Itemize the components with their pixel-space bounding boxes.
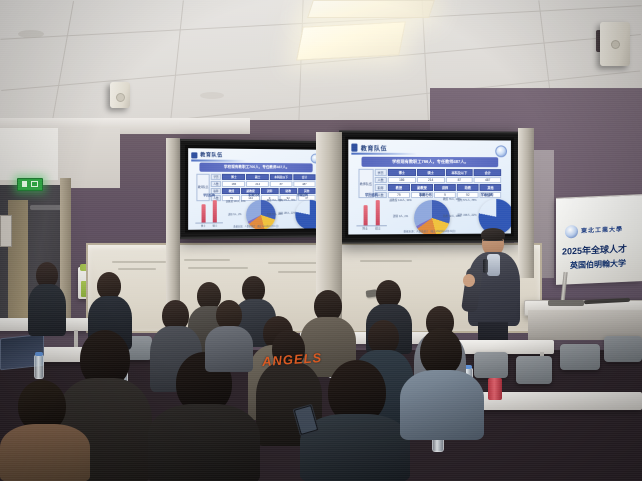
bar-item — [376, 200, 380, 226]
slide-footer: 数据来源：人事处统计（截止2024年12月31日） — [199, 224, 312, 229]
university-logo-icon — [565, 225, 578, 239]
slide-table-right: 教师队伍 学历 博士 硕士 本科及以下 合计 人数 186 214 — [358, 169, 501, 190]
torso — [400, 370, 484, 440]
table-data-cell: 87 — [270, 181, 292, 187]
classroom-presentation-photo: 教育队伍 学校现有教职工766人，专任教师487人。 教师队伍 学历 博士 硕士… — [0, 0, 642, 481]
slide-bar-chart: 学历结构 博士 硕士 — [194, 193, 225, 227]
table-header-cell: 助教 — [457, 184, 479, 191]
chair[interactable] — [516, 356, 552, 384]
table-header-cell: 合计 — [474, 169, 501, 176]
table-header-cell: 博士 — [222, 174, 245, 180]
audience-member — [0, 380, 90, 481]
torso — [148, 404, 260, 481]
presenter-hand — [463, 274, 475, 287]
table-header-cell: 教授 — [388, 184, 410, 191]
slide-title-accent — [352, 144, 358, 152]
slide-donut-chart: 学缘结构 境内 571人, 78% 境外 158人, 22% — [465, 192, 510, 231]
donut-chart-caption: 学缘结构 — [465, 192, 510, 197]
ceiling-light-panel-2 — [307, 0, 435, 18]
wall-poster — [0, 215, 12, 247]
table-row-label: 学历 — [374, 169, 386, 176]
table-header-cell: 博士 — [388, 169, 416, 176]
table-header-cell: 本科及以下 — [270, 174, 292, 180]
bar-chart-caption: 学历结构 — [194, 193, 225, 197]
slide-logo-icon — [495, 145, 507, 157]
slide-title-left: 教育队伍 — [191, 151, 246, 162]
slide-bar-chart: 学历结构 博士 硕士 — [355, 192, 388, 232]
bar-item — [201, 205, 205, 223]
water-bottle[interactable] — [34, 355, 44, 379]
audience-member — [400, 328, 484, 438]
pie-label: 讲师 9人, 2% — [389, 216, 412, 219]
donut-label: 境内 571人, 78% — [279, 200, 294, 203]
slide-content-left: 教育队伍 学校现有教职工766人，专任教师487人。 教师队伍 学历 博士 硕士… — [188, 148, 323, 230]
pie-label: 讲师 9人, 2% — [226, 214, 243, 217]
donut-label: 境内 571人, 78% — [457, 200, 476, 203]
audience-member — [28, 262, 66, 336]
slide-banner: 学校现有教职工766人，专任教师487人。 — [199, 163, 312, 173]
pie-label: 副教授 144人, 30% — [389, 200, 412, 203]
slide-title-underline — [352, 152, 418, 154]
table-data-cell: 214 — [417, 177, 445, 183]
slide-content-right: 教育队伍 学校现有教职工766人，专任教师487人。 教师队伍 学历 博士 硕士… — [348, 139, 511, 234]
torso — [28, 284, 66, 336]
donut-label: 境外 158人, 22% — [457, 214, 476, 217]
door-push-bar[interactable] — [30, 205, 64, 210]
pie-chart-caption: 职称分布 — [227, 193, 281, 197]
pie-chart-caption: 职称分布 — [391, 192, 459, 197]
table-data-cell: 214 — [246, 181, 269, 187]
donut-label: 境外 158人, 22% — [279, 213, 294, 216]
table-row: 学历 博士 硕士 本科及以下 合计 — [211, 174, 316, 180]
chair[interactable] — [560, 344, 600, 370]
bar-chart-caption: 学历结构 — [355, 192, 388, 197]
slide-banner: 学校现有教职工766人，专任教师487人。 — [362, 157, 499, 168]
pie-label: 副教授 144人, 30% — [226, 201, 243, 204]
university-name: 東北工業大學 — [581, 224, 623, 235]
chair[interactable] — [604, 336, 642, 362]
head — [420, 328, 462, 376]
presenter-shirt — [487, 254, 500, 276]
table-row: 人数 186 214 87 487 — [374, 177, 501, 183]
presenter-glasses-icon — [483, 240, 503, 245]
event-banner: 東北工業大學 2025年全球人才 英国伯明翰大学 — [556, 194, 642, 285]
table-row: 学历 博士 硕士 本科及以下 合计 — [374, 169, 501, 176]
table-data-cell: 487 — [474, 177, 501, 183]
red-cup[interactable] — [488, 378, 502, 400]
slide-pie-chart: 职称分布 副教授 144人, 30% 教授 79人, 16% 助教 92人, 1… — [391, 192, 459, 232]
table-header-cell: 硕士 — [246, 174, 269, 180]
table-row-label: 人数 — [374, 177, 386, 183]
table-header-cell: 硕士 — [417, 169, 445, 176]
slide-pie-chart: 职称分布 副教授 144人, 30% 教授 79人, 16% 助教 92人, 1… — [227, 193, 281, 227]
table-row: 职称 教授 副教授 讲师 助教 其他 — [374, 184, 501, 191]
audience-member — [205, 300, 253, 370]
table-data-cell: 487 — [293, 181, 315, 187]
table-header-cell: 本科及以下 — [445, 169, 473, 176]
bar-item — [363, 205, 367, 226]
table-data-cell: 186 — [222, 181, 245, 187]
bar-chart-plot — [355, 198, 388, 227]
microphone-base — [548, 300, 584, 306]
slide-title-text: 教育队伍 — [361, 143, 387, 152]
table-row-label: 人数 — [211, 181, 222, 187]
left-window-strip — [0, 128, 58, 180]
handheld-microphone[interactable] — [483, 259, 488, 273]
right-wall-speaker — [600, 22, 630, 66]
torso — [205, 326, 253, 372]
emergency-exit-sign — [17, 178, 43, 191]
table-header-cell: 讲师 — [434, 184, 456, 191]
table-row-label: 职称 — [374, 184, 386, 191]
table-data-cell: 87 — [445, 177, 473, 183]
slide-title-accent — [191, 152, 197, 159]
left-wall-speaker — [110, 82, 130, 108]
table-header-cell: 副教授 — [411, 184, 433, 191]
table-header-cell: 合计 — [293, 174, 315, 180]
bar-item — [213, 200, 217, 223]
slide-banner-text: 学校现有教职工766人，专任教师487人。 — [392, 159, 469, 165]
bar-chart-plot — [194, 198, 225, 223]
slide-banner-text: 学校现有教职工766人，专任教师487人。 — [224, 165, 289, 170]
table-data-cell: 186 — [388, 177, 416, 183]
slide-title-text: 教育队伍 — [200, 151, 222, 158]
table-row: 人数 186 214 87 487 — [211, 181, 316, 187]
banner-line-1: 2025年全球人才 — [562, 242, 627, 258]
slide-title-right: 教育队伍 — [352, 142, 418, 155]
table-row-label: 学历 — [211, 174, 222, 180]
table-header-cell: 其他 — [480, 184, 502, 191]
banner-line-2: 英国伯明翰大学 — [570, 258, 626, 271]
display-screen-left[interactable]: 教育队伍 学校现有教职工766人，专任教师487人。 教师队伍 学历 博士 硕士… — [179, 139, 332, 239]
torso — [0, 424, 90, 481]
display-screen-right[interactable]: 教育队伍 学校现有教职工766人，专任教师487人。 教师队伍 学历 博士 硕士… — [339, 130, 520, 243]
ceiling-vent — [18, 30, 44, 38]
slide-title-underline — [191, 159, 246, 161]
slide-table-left: 教师队伍 学历 博士 硕士 本科及以下 合计 人数 186 214 — [197, 174, 316, 192]
ceiling-light-panel — [296, 21, 406, 60]
ceiling-vent-2 — [200, 92, 224, 99]
